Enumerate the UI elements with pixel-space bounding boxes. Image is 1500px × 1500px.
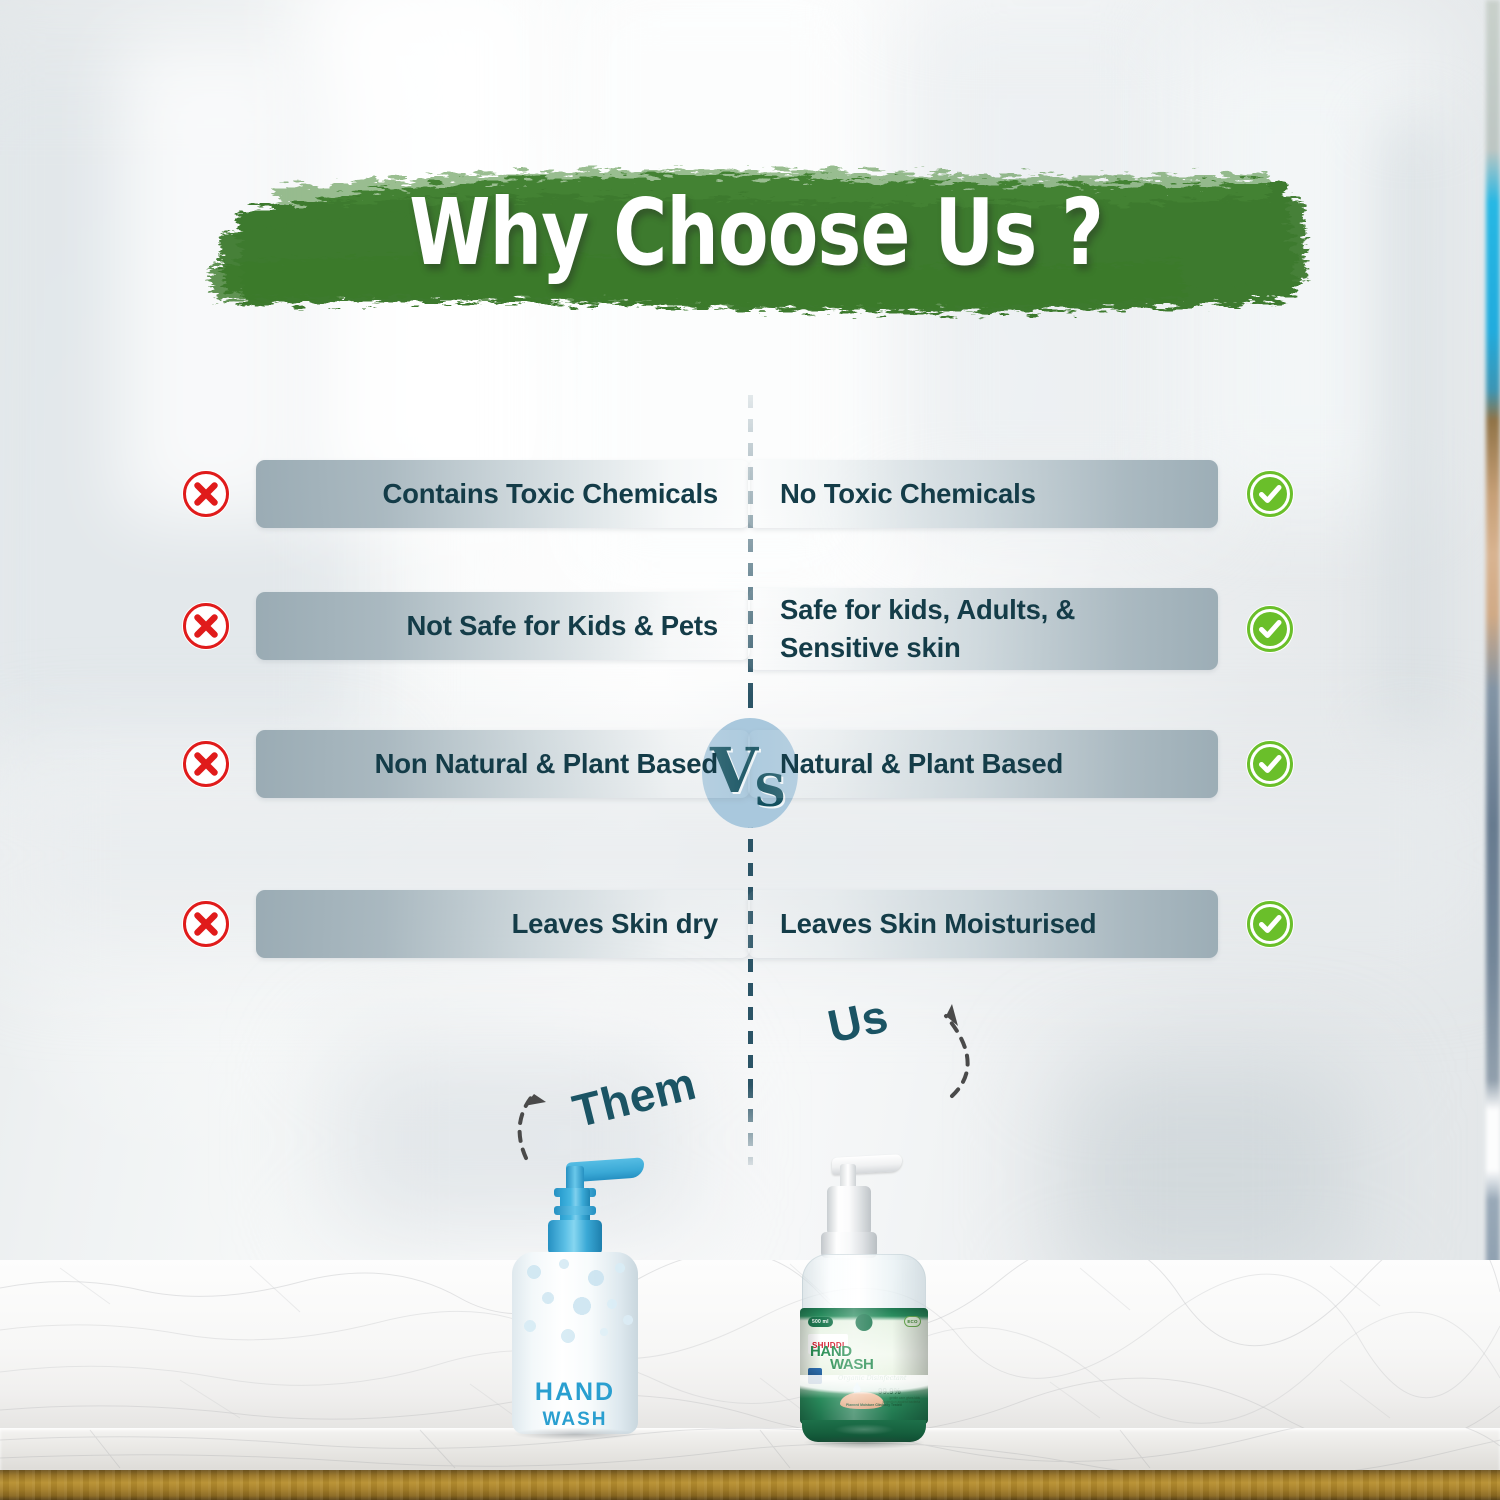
check-circle-icon [1244, 738, 1296, 790]
table-row: Contains Toxic Chemicals [180, 460, 750, 528]
bottle-body: HAND WASH [512, 1252, 638, 1434]
cross-circle-icon [180, 898, 232, 950]
cross-circle-icon [180, 600, 232, 652]
cross-circle-icon [180, 468, 232, 520]
bottle-label-line1: HAND [512, 1378, 638, 1407]
comparison-pill-right: Natural & Plant Based [748, 730, 1218, 798]
table-row: Leaves Skin dry [180, 890, 750, 958]
comparison-label: No Toxic Chemicals [780, 475, 1036, 513]
product-tagline: Organic Disinfectant [838, 1374, 907, 1382]
comparison-label: Contains Toxic Chemicals [383, 475, 718, 513]
check-circle-icon [1244, 468, 1296, 520]
callout-us: Us [800, 988, 980, 1098]
comparison-pill-right: Leaves Skin Moisturised [748, 890, 1218, 958]
shuddi-handwash-bottle: 500 ml ECO SHUDDI HAND WASH Organic Disi… [790, 1148, 938, 1444]
comparison-pill-left: Leaves Skin dry [256, 890, 750, 958]
comparison-table: Contains Toxic Chemicals Not Safe for Ki… [0, 0, 1500, 1500]
claim-text: gentle care gives kids protection agains… [878, 1396, 920, 1404]
check-circle-icon [1244, 898, 1296, 950]
pump-ring [554, 1206, 596, 1215]
hand-illustration-icon [840, 1392, 884, 1409]
comparison-label: Safe for kids, Adults, & Sensitive skin [780, 591, 1192, 667]
comparison-pill-left: Non Natural & Plant Based [256, 730, 750, 798]
water-drop-icon [852, 1382, 862, 1395]
table-row: No Toxic Chemicals [748, 460, 1296, 528]
check-circle-icon [1244, 603, 1296, 655]
callout-them: Them [512, 1050, 742, 1160]
comparison-label: Leaves Skin dry [512, 905, 718, 943]
table-row: Safe for kids, Adults, & Sensitive skin [748, 588, 1296, 670]
table-row: Non Natural & Plant Based [180, 730, 750, 798]
pump-collar [827, 1186, 871, 1236]
comparison-pill-right: Safe for kids, Adults, & Sensitive skin [748, 588, 1218, 670]
bottle-label: HAND WASH [512, 1378, 638, 1431]
comparison-pill-left: Contains Toxic Chemicals [256, 460, 750, 528]
cross-circle-icon [180, 738, 232, 790]
comparison-label: Leaves Skin Moisturised [780, 905, 1096, 943]
generic-handwash-bottle: HAND WASH [498, 1152, 648, 1442]
table-row: Leaves Skin Moisturised [748, 890, 1296, 958]
bottle-shadow [804, 1436, 924, 1449]
comparison-label: Non Natural & Plant Based [375, 745, 718, 783]
pump-collar [548, 1220, 602, 1256]
product-label: 500 ml ECO SHUDDI HAND WASH Organic Disi… [800, 1308, 928, 1424]
comparison-pill-right: No Toxic Chemicals [748, 460, 1218, 528]
comparison-label: Not Safe for Kids & Pets [406, 607, 718, 645]
claim-percent-value: 99.9% [878, 1387, 901, 1396]
comparison-pill-left: Not Safe for Kids & Pets [256, 592, 750, 660]
claim-percent: 99.9%gentle care gives kids protection a… [878, 1387, 920, 1404]
comparison-label: Natural & Plant Based [780, 745, 1063, 783]
product-bullets: Planned Moisture Clinically Tested [846, 1403, 902, 1409]
bottle-shadow [514, 1428, 636, 1440]
label-shading [800, 1308, 928, 1424]
table-row: Not Safe for Kids & Pets [180, 592, 750, 660]
table-row: Natural & Plant Based [748, 730, 1296, 798]
